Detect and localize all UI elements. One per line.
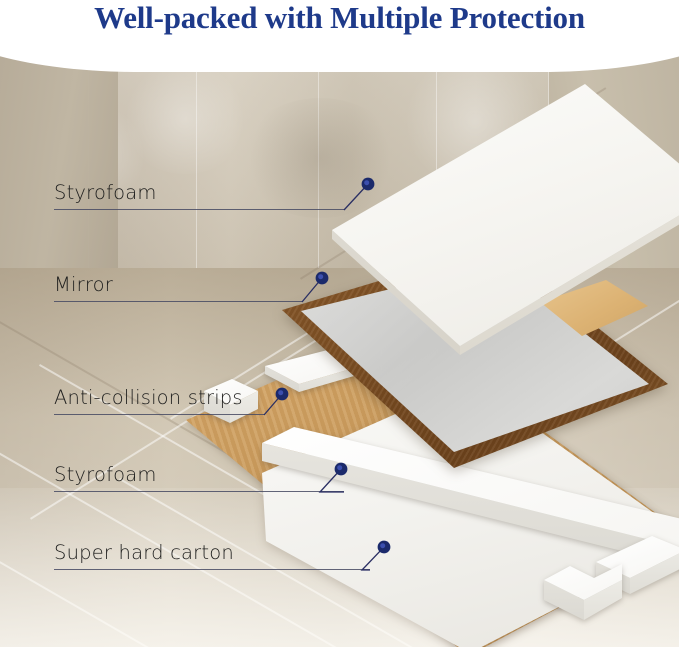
callout-anti-collision-strips: Anti-collision strips [54,381,264,415]
callout-super-hard-carton: Super hard carton [54,536,370,570]
page-title: Well-packed with Multiple Protection [0,0,679,38]
callout-label: Mirror [54,273,113,296]
callout-styrofoam-bottom: Styrofoam [54,458,344,492]
tiled-left-wall [0,36,118,304]
callout-rule [54,414,264,415]
callout-rule [54,209,344,210]
infographic-root: Well-packed with Multiple Protection Sty… [0,0,679,647]
callout-mirror: Mirror [54,268,302,302]
callout-rule [54,301,302,302]
callout-label: Anti-collision strips [54,386,243,409]
callout-rule [54,569,370,570]
callout-label: Super hard carton [54,541,234,564]
callout-rule [54,491,344,492]
anti-collision-corner-block-bottom [536,558,622,624]
callout-styrofoam-top: Styrofoam [54,176,344,210]
callout-label: Styrofoam [54,463,157,486]
callout-label: Styrofoam [54,181,157,204]
